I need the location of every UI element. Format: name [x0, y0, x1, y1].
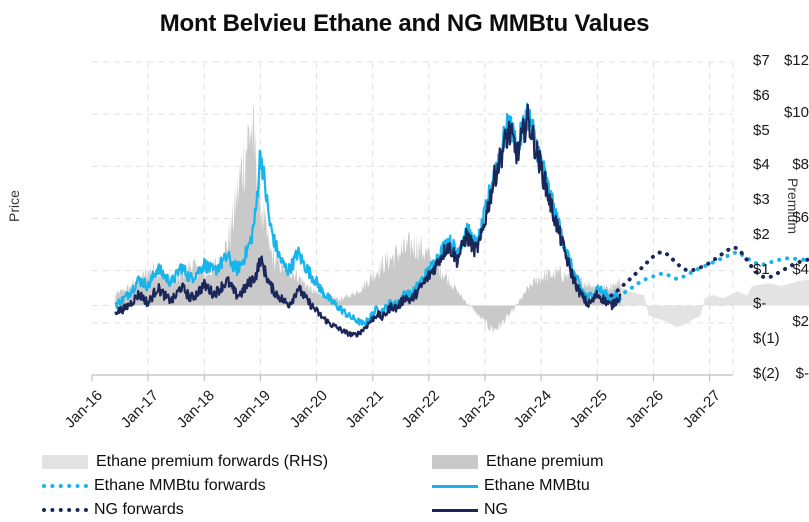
chart-container: Mont Belvieu Ethane and NG MMBtu Values …	[0, 0, 809, 520]
legend-label: Ethane premium forwards (RHS)	[96, 453, 328, 471]
legend-label: Ethane MMBtu	[484, 477, 590, 495]
y-axis-left-tick-label: $6	[729, 209, 809, 226]
y-axis-right-tick-label: $4	[753, 156, 770, 173]
legend-solid-line-icon	[432, 503, 478, 517]
legend-swatch-icon	[42, 455, 88, 469]
legend-label: NG forwards	[94, 501, 184, 519]
legend-dotted-line-icon	[42, 479, 88, 493]
y-axis-right-tick-label: $-	[753, 295, 766, 312]
legend-label: Ethane premium	[486, 453, 603, 471]
legend-row: Ethane MMBtu forwards Ethane MMBtu	[42, 474, 782, 498]
legend-item-ethane-mmbtu[interactable]: Ethane MMBtu	[432, 474, 772, 498]
legend-item-ethane-premium[interactable]: Ethane premium	[432, 450, 772, 474]
y-axis-right-tick-label: $5	[753, 122, 770, 139]
legend-label: NG	[484, 501, 508, 519]
y-axis-right-tick-label: $1	[753, 261, 770, 278]
y-axis-right-tick-label: $6	[753, 87, 770, 104]
chart-legend: Ethane premium forwards (RHS) Ethane pre…	[42, 450, 782, 522]
legend-solid-line-icon	[432, 479, 478, 493]
legend-item-ng-forwards[interactable]: NG forwards	[42, 498, 432, 522]
y-axis-right-tick-label: $(2)	[753, 365, 780, 382]
legend-dotted-line-icon	[42, 503, 88, 517]
legend-label: Ethane MMBtu forwards	[94, 477, 266, 495]
y-axis-right-tick-label: $3	[753, 191, 770, 208]
y-axis-left-tick-label: $10	[729, 104, 809, 121]
y-axis-right-tick-label: $7	[753, 52, 770, 69]
y-axis-left-tick-label: $2	[729, 313, 809, 330]
legend-item-ng[interactable]: NG	[432, 498, 772, 522]
legend-item-ethane-premium-forwards[interactable]: Ethane premium forwards (RHS)	[42, 450, 432, 474]
plot-area	[0, 0, 809, 450]
y-axis-right-tick-label: $(1)	[753, 330, 780, 347]
y-axis-right-tick-label: $2	[753, 226, 770, 243]
legend-item-ethane-mmbtu-forwards[interactable]: Ethane MMBtu forwards	[42, 474, 432, 498]
legend-row: NG forwards NG	[42, 498, 782, 522]
legend-row: Ethane premium forwards (RHS) Ethane pre…	[42, 450, 782, 474]
legend-swatch-icon	[432, 455, 478, 469]
